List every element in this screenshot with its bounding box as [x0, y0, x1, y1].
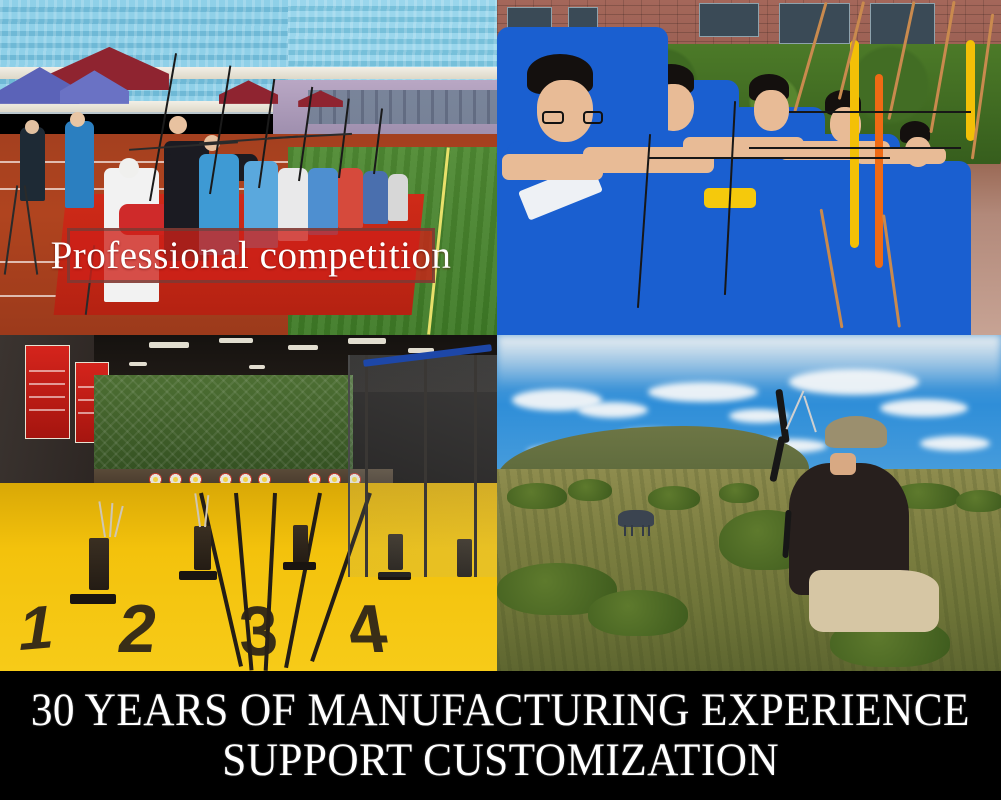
- scene-shooting-game-photo: [497, 0, 1001, 335]
- banner-line-1: 30 YEARS OF MANUFACTURING EXPERIENCE: [31, 687, 970, 735]
- banner-line-2: SUPPORT CUSTOMIZATION: [222, 737, 779, 785]
- panel-practice[interactable]: 1 2 3 4 Practice: [0, 335, 497, 671]
- panel-shooting-game[interactable]: Shooting game: [497, 0, 1001, 335]
- scene-competition-photo: [0, 0, 497, 335]
- lane-number-3: 3: [237, 591, 279, 671]
- scene-practice-range-photo: 1 2 3 4: [0, 335, 497, 671]
- caption-professional-competition: Professional competition: [67, 228, 435, 283]
- scene-hunting-photo: [497, 335, 1001, 671]
- image-collage-grid: Professional competition: [0, 0, 1001, 671]
- panel-professional-competition[interactable]: Professional competition: [0, 0, 497, 335]
- bottom-banner: 30 YEARS OF MANUFACTURING EXPERIENCE SUP…: [0, 671, 1001, 800]
- panel-hunting[interactable]: Hunting: [497, 335, 1001, 671]
